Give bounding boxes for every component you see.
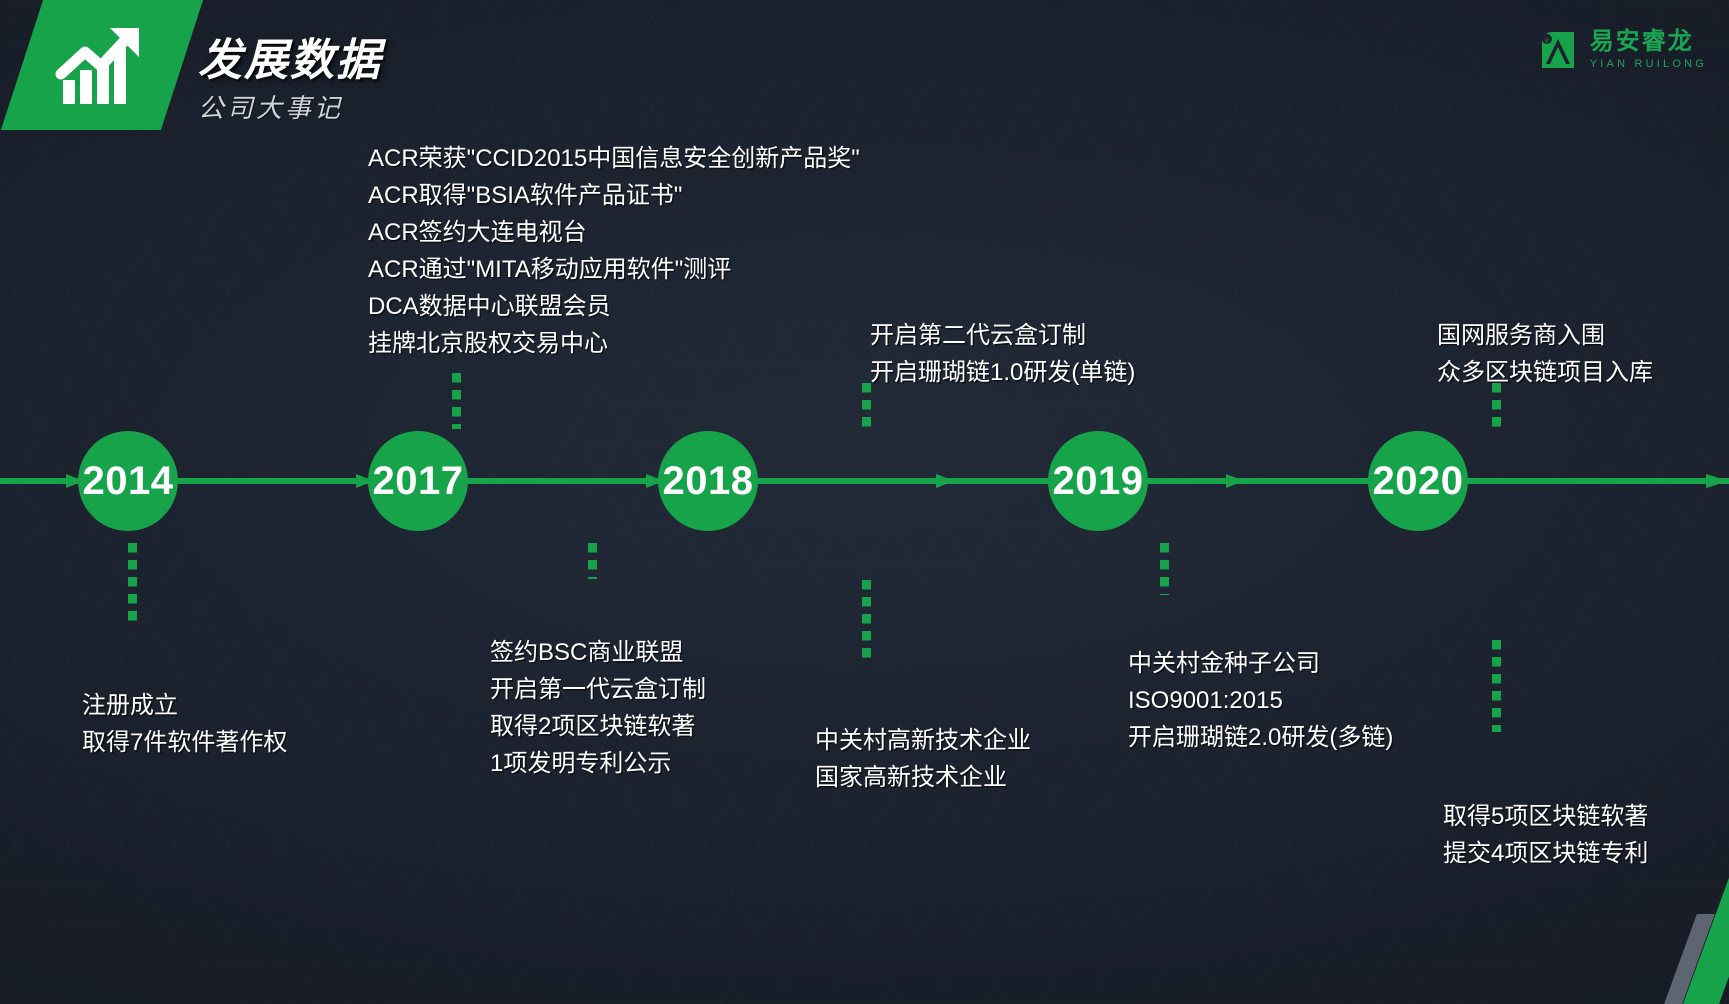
note-line: ISO9001:2015 — [1128, 682, 1393, 719]
connector-dots-2014-below — [128, 543, 137, 625]
note-2020-above: 国网服务商入围 众多区块链项目入库 — [1437, 317, 1653, 391]
note-line: 开启第一代云盒订制 — [490, 671, 706, 708]
note-2020-below: 取得5项区块链软著 提交4项区块链专利 — [1443, 798, 1648, 872]
note-2018-below: 中关村高新技术企业 国家高新技术企业 — [815, 722, 1031, 796]
note-line: ACR取得"BSIA软件产品证书" — [368, 177, 860, 214]
note-line: 1项发明专利公示 — [490, 745, 706, 782]
note-2018-above: 开启第二代云盒订制 开启珊瑚链1.0研发(单链) — [870, 317, 1135, 391]
timeline-node-2018[interactable]: 2018 — [658, 431, 758, 531]
connector-dots-2019-below — [1160, 543, 1169, 595]
connector-dots-2020-below — [1492, 640, 1501, 732]
growth-chart-arrow-icon — [55, 22, 150, 112]
timeline-node-2019[interactable]: 2019 — [1048, 431, 1148, 531]
logo-company-name: 易安睿龙 — [1590, 30, 1707, 54]
connector-dots-2018-below — [862, 580, 871, 662]
note-line: ACR荣获"CCID2015中国信息安全创新产品奖" — [368, 140, 860, 177]
note-line: 挂牌北京股权交易中心 — [368, 325, 860, 362]
note-line: DCA数据中心联盟会员 — [368, 288, 860, 325]
note-line: 取得7件软件著作权 — [82, 724, 287, 761]
timeline-node-2014[interactable]: 2014 — [78, 431, 178, 531]
connector-dots-2017-below — [588, 543, 597, 579]
note-line: 中关村金种子公司 — [1128, 645, 1393, 682]
logo-company-pinyin: YIAN RUILONG — [1590, 59, 1707, 70]
page-title: 发展数据 — [198, 24, 382, 88]
note-line: 开启珊瑚链1.0研发(单链) — [870, 354, 1135, 391]
corner-decoration-bottom-right — [1579, 874, 1729, 1004]
note-2017-above: ACR荣获"CCID2015中国信息安全创新产品奖" ACR取得"BSIA软件产… — [368, 140, 860, 362]
timeline-node-2020[interactable]: 2020 — [1368, 431, 1468, 531]
note-line: 国网服务商入围 — [1437, 317, 1653, 354]
svg-text:e: e — [1545, 36, 1549, 45]
note-line: 取得5项区块链软著 — [1443, 798, 1648, 835]
note-line: 中关村高新技术企业 — [815, 722, 1031, 759]
company-logo: e 易安睿龙 YIAN RUILONG — [1536, 28, 1707, 72]
logo-text: 易安睿龙 YIAN RUILONG — [1590, 30, 1707, 70]
note-line: ACR签约大连电视台 — [368, 214, 860, 251]
note-line: 开启珊瑚链2.0研发(多链) — [1128, 719, 1393, 756]
note-2019-below: 中关村金种子公司 ISO9001:2015 开启珊瑚链2.0研发(多链) — [1128, 645, 1393, 756]
timeline-node-2017[interactable]: 2017 — [368, 431, 468, 531]
note-2017-below: 签约BSC商业联盟 开启第一代云盒订制 取得2项区块链软著 1项发明专利公示 — [490, 634, 706, 782]
timeline-axis — [0, 474, 1729, 488]
note-line: 提交4项区块链专利 — [1443, 835, 1648, 872]
note-line: 注册成立 — [82, 687, 287, 724]
connector-dots-2017-above — [452, 373, 461, 429]
note-line: 众多区块链项目入库 — [1437, 354, 1653, 391]
note-line: ACR通过"MITA移动应用软件"测评 — [368, 251, 860, 288]
note-line: 取得2项区块链软著 — [490, 708, 706, 745]
page-subtitle: 公司大事记 — [198, 88, 343, 125]
note-line: 国家高新技术企业 — [815, 759, 1031, 796]
yian-ruilong-logo-mark-icon: e — [1536, 28, 1580, 72]
note-line: 签约BSC商业联盟 — [490, 634, 706, 671]
note-line: 开启第二代云盒订制 — [870, 317, 1135, 354]
note-2014-below: 注册成立 取得7件软件著作权 — [82, 687, 287, 761]
